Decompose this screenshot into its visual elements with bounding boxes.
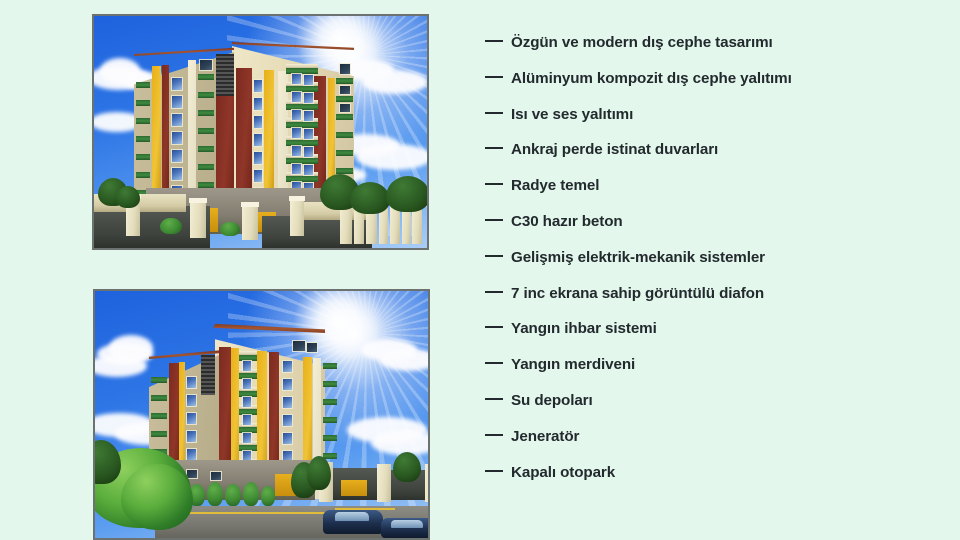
shrub	[160, 218, 182, 234]
dash-bullet-icon	[485, 434, 503, 436]
list-item: Özgün ve modern dış cephe tasarımı	[485, 34, 925, 70]
feature-label: C30 hazır beton	[511, 213, 623, 230]
feature-label: Ankraj perde istinat duvarları	[511, 141, 718, 158]
dash-bullet-icon	[485, 40, 503, 42]
dash-bullet-icon	[485, 398, 503, 400]
list-item: C30 hazır beton	[485, 213, 925, 249]
feature-label: Isı ve ses yalıtımı	[511, 106, 633, 123]
feature-label: Gelişmiş elektrik-mekanik sistemler	[511, 249, 765, 266]
residential-tower-render-bottom	[93, 289, 430, 540]
shrub	[261, 486, 275, 506]
dash-bullet-icon	[485, 112, 503, 114]
building-features-list: Özgün ve modern dış cephe tasarımı Alümi…	[485, 34, 925, 499]
list-item: Gelişmiş elektrik-mekanik sistemler	[485, 249, 925, 285]
facade-louvers	[216, 54, 234, 96]
ground-level	[94, 176, 427, 248]
shrub	[225, 484, 241, 506]
cloud	[362, 70, 427, 94]
dash-bullet-icon	[485, 76, 503, 78]
tree	[307, 456, 331, 490]
list-item: Yangın merdiveni	[485, 356, 925, 392]
dash-bullet-icon	[485, 219, 503, 221]
foreground-tree	[121, 464, 193, 530]
shrub	[243, 482, 259, 506]
list-item: Alüminyum kompozit dış cephe yalıtımı	[485, 70, 925, 106]
list-item: Yangın ihbar sistemi	[485, 320, 925, 356]
dash-bullet-icon	[485, 326, 503, 328]
dash-bullet-icon	[485, 147, 503, 149]
cloud	[356, 144, 427, 170]
list-item: 7 inc ekrana sahip görüntülü diafon	[485, 285, 925, 321]
feature-label: Su depoları	[511, 392, 593, 409]
list-item: Radye temel	[485, 177, 925, 213]
feature-label: Jeneratör	[511, 428, 579, 445]
feature-label: 7 inc ekrana sahip görüntülü diafon	[511, 285, 764, 302]
feature-label: Özgün ve modern dış cephe tasarımı	[511, 34, 773, 51]
dash-bullet-icon	[485, 291, 503, 293]
feature-label: Yangın ihbar sistemi	[511, 320, 657, 337]
ground-level	[95, 460, 428, 538]
shrub	[207, 482, 223, 506]
list-item: Jeneratör	[485, 428, 925, 464]
feature-label: Kapalı otopark	[511, 464, 615, 481]
tree	[386, 176, 427, 212]
facade-louvers	[201, 355, 215, 395]
dash-bullet-icon	[485, 183, 503, 185]
shrub	[220, 222, 240, 236]
list-item: Kapalı otopark	[485, 464, 925, 500]
slide-canvas: Özgün ve modern dış cephe tasarımı Alümi…	[0, 0, 960, 540]
car-windshield	[335, 512, 369, 521]
tree	[350, 182, 390, 214]
feature-label: Radye temel	[511, 177, 599, 194]
tree	[393, 452, 421, 482]
dash-bullet-icon	[485, 470, 503, 472]
list-item: Su depoları	[485, 392, 925, 428]
road-curb-line	[165, 512, 345, 514]
list-item: Ankraj perde istinat duvarları	[485, 141, 925, 177]
feature-label: Yangın merdiveni	[511, 356, 635, 373]
dash-bullet-icon	[485, 255, 503, 257]
list-item: Isı ve ses yalıtımı	[485, 106, 925, 142]
residential-tower-render-top	[92, 14, 429, 250]
dash-bullet-icon	[485, 362, 503, 364]
feature-label: Alüminyum kompozit dış cephe yalıtımı	[511, 70, 792, 87]
tree	[116, 186, 140, 208]
car-windshield	[391, 520, 423, 528]
